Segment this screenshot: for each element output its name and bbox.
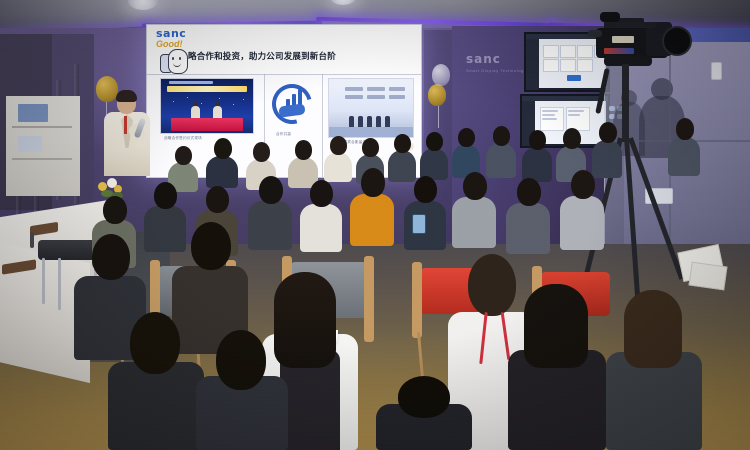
audience-member [486,126,516,178]
dashboard-card[interactable] [577,59,593,72]
audience-torso [522,147,552,182]
audience-torso [506,203,550,254]
balloon-white-right [432,64,450,86]
dashboard-card[interactable] [543,59,559,72]
camera-handle [612,22,656,28]
presenter-lanyard [124,116,127,134]
audience-head [517,178,541,206]
audience-member [350,168,394,246]
audience-head [529,130,546,150]
dashboard-card[interactable] [560,59,576,72]
conference-room-photo: sanc Good! 略合作和投资，助力公司发展到新台阶 [0,0,750,450]
audience-torso [248,201,292,250]
audience-head [361,168,385,197]
audience-torso [206,156,238,188]
camera-mic [588,30,602,37]
config-line [568,110,584,112]
stool-leg [42,258,45,304]
printed-handout [689,262,728,291]
audience-member [560,170,604,250]
monitor-primary-button[interactable] [567,75,581,81]
camera-lens [662,26,692,56]
audience-head [130,312,180,374]
audience-head [253,142,270,162]
dashboard-card[interactable] [543,45,559,58]
tripod-column [622,64,629,142]
audience-head [362,138,379,157]
cabinet-display-item [18,104,48,122]
audience-member-front [108,312,204,450]
camera-brand-label [612,36,634,43]
smartphone-raised [412,214,426,234]
audience-torso [350,194,394,246]
audience-head [191,222,231,270]
left-cabinet [6,96,80,196]
room-shell: sanc Good! 略合作和投资，助力公司发展到新台阶 [0,0,750,450]
chair-frame [412,262,422,338]
audience-torso [452,197,496,248]
cabinet-shelf [12,126,72,128]
audience-head [103,196,127,224]
cabinet-display-item [18,136,42,152]
camera-rec-badge [604,48,634,54]
audience-member [248,176,292,250]
audience-member [668,118,700,176]
audience-member [324,136,352,182]
audience-head [676,118,694,140]
audience-head [216,330,266,390]
audience-member [404,176,446,250]
audience-torso [324,152,352,182]
audience-head [571,170,595,199]
audience-head [398,376,450,418]
audience-member [206,138,238,188]
audience-member [420,132,448,180]
audience-head [154,182,177,209]
chair-frame [364,256,374,342]
audience-member [522,130,552,182]
audience-member [452,172,496,248]
desk-faucet [30,232,34,248]
config-line [542,118,557,120]
cabinet-shelf [12,158,72,160]
audience-head [92,234,130,280]
balloon-string-right [438,106,439,128]
audience-hair [624,290,682,368]
audience-head [394,134,411,153]
balloon-gold-right [428,84,446,106]
audience-head [493,126,510,146]
config-line [568,114,580,116]
config-line [542,110,558,112]
monitor-sidebar [526,39,539,90]
audience-head [563,128,581,149]
audience-member-front [376,376,472,450]
camera-viewfinder [600,12,620,22]
audience-member [452,128,480,178]
dashboard-card[interactable] [577,45,593,58]
audience-member-front [606,290,702,450]
wall-switch-plate[interactable] [711,62,722,80]
audience-member-front [196,330,288,450]
audience-head [259,176,283,204]
audience-torso [560,196,604,250]
dashboard-card[interactable] [560,45,576,58]
audience-hair [524,284,588,368]
audience-member [300,180,342,252]
audience-head [426,132,443,151]
presenter [104,92,150,176]
audience-head [458,128,475,147]
audience-head [295,140,312,160]
audience-head [206,186,229,213]
audience-head [599,122,617,143]
audience-torso [668,137,700,176]
audience-head [310,180,333,207]
stool-leg [58,258,61,310]
config-line [542,114,555,116]
audience-member [506,178,550,254]
audience-torso [108,362,204,450]
audience-member-front [508,284,606,450]
audience-head [175,146,192,165]
audience-head [463,172,487,200]
audience-head [214,138,232,159]
audience-head [414,176,437,203]
presenter-hair [116,90,137,102]
audience-head [330,136,347,155]
audience-torso [300,204,342,252]
